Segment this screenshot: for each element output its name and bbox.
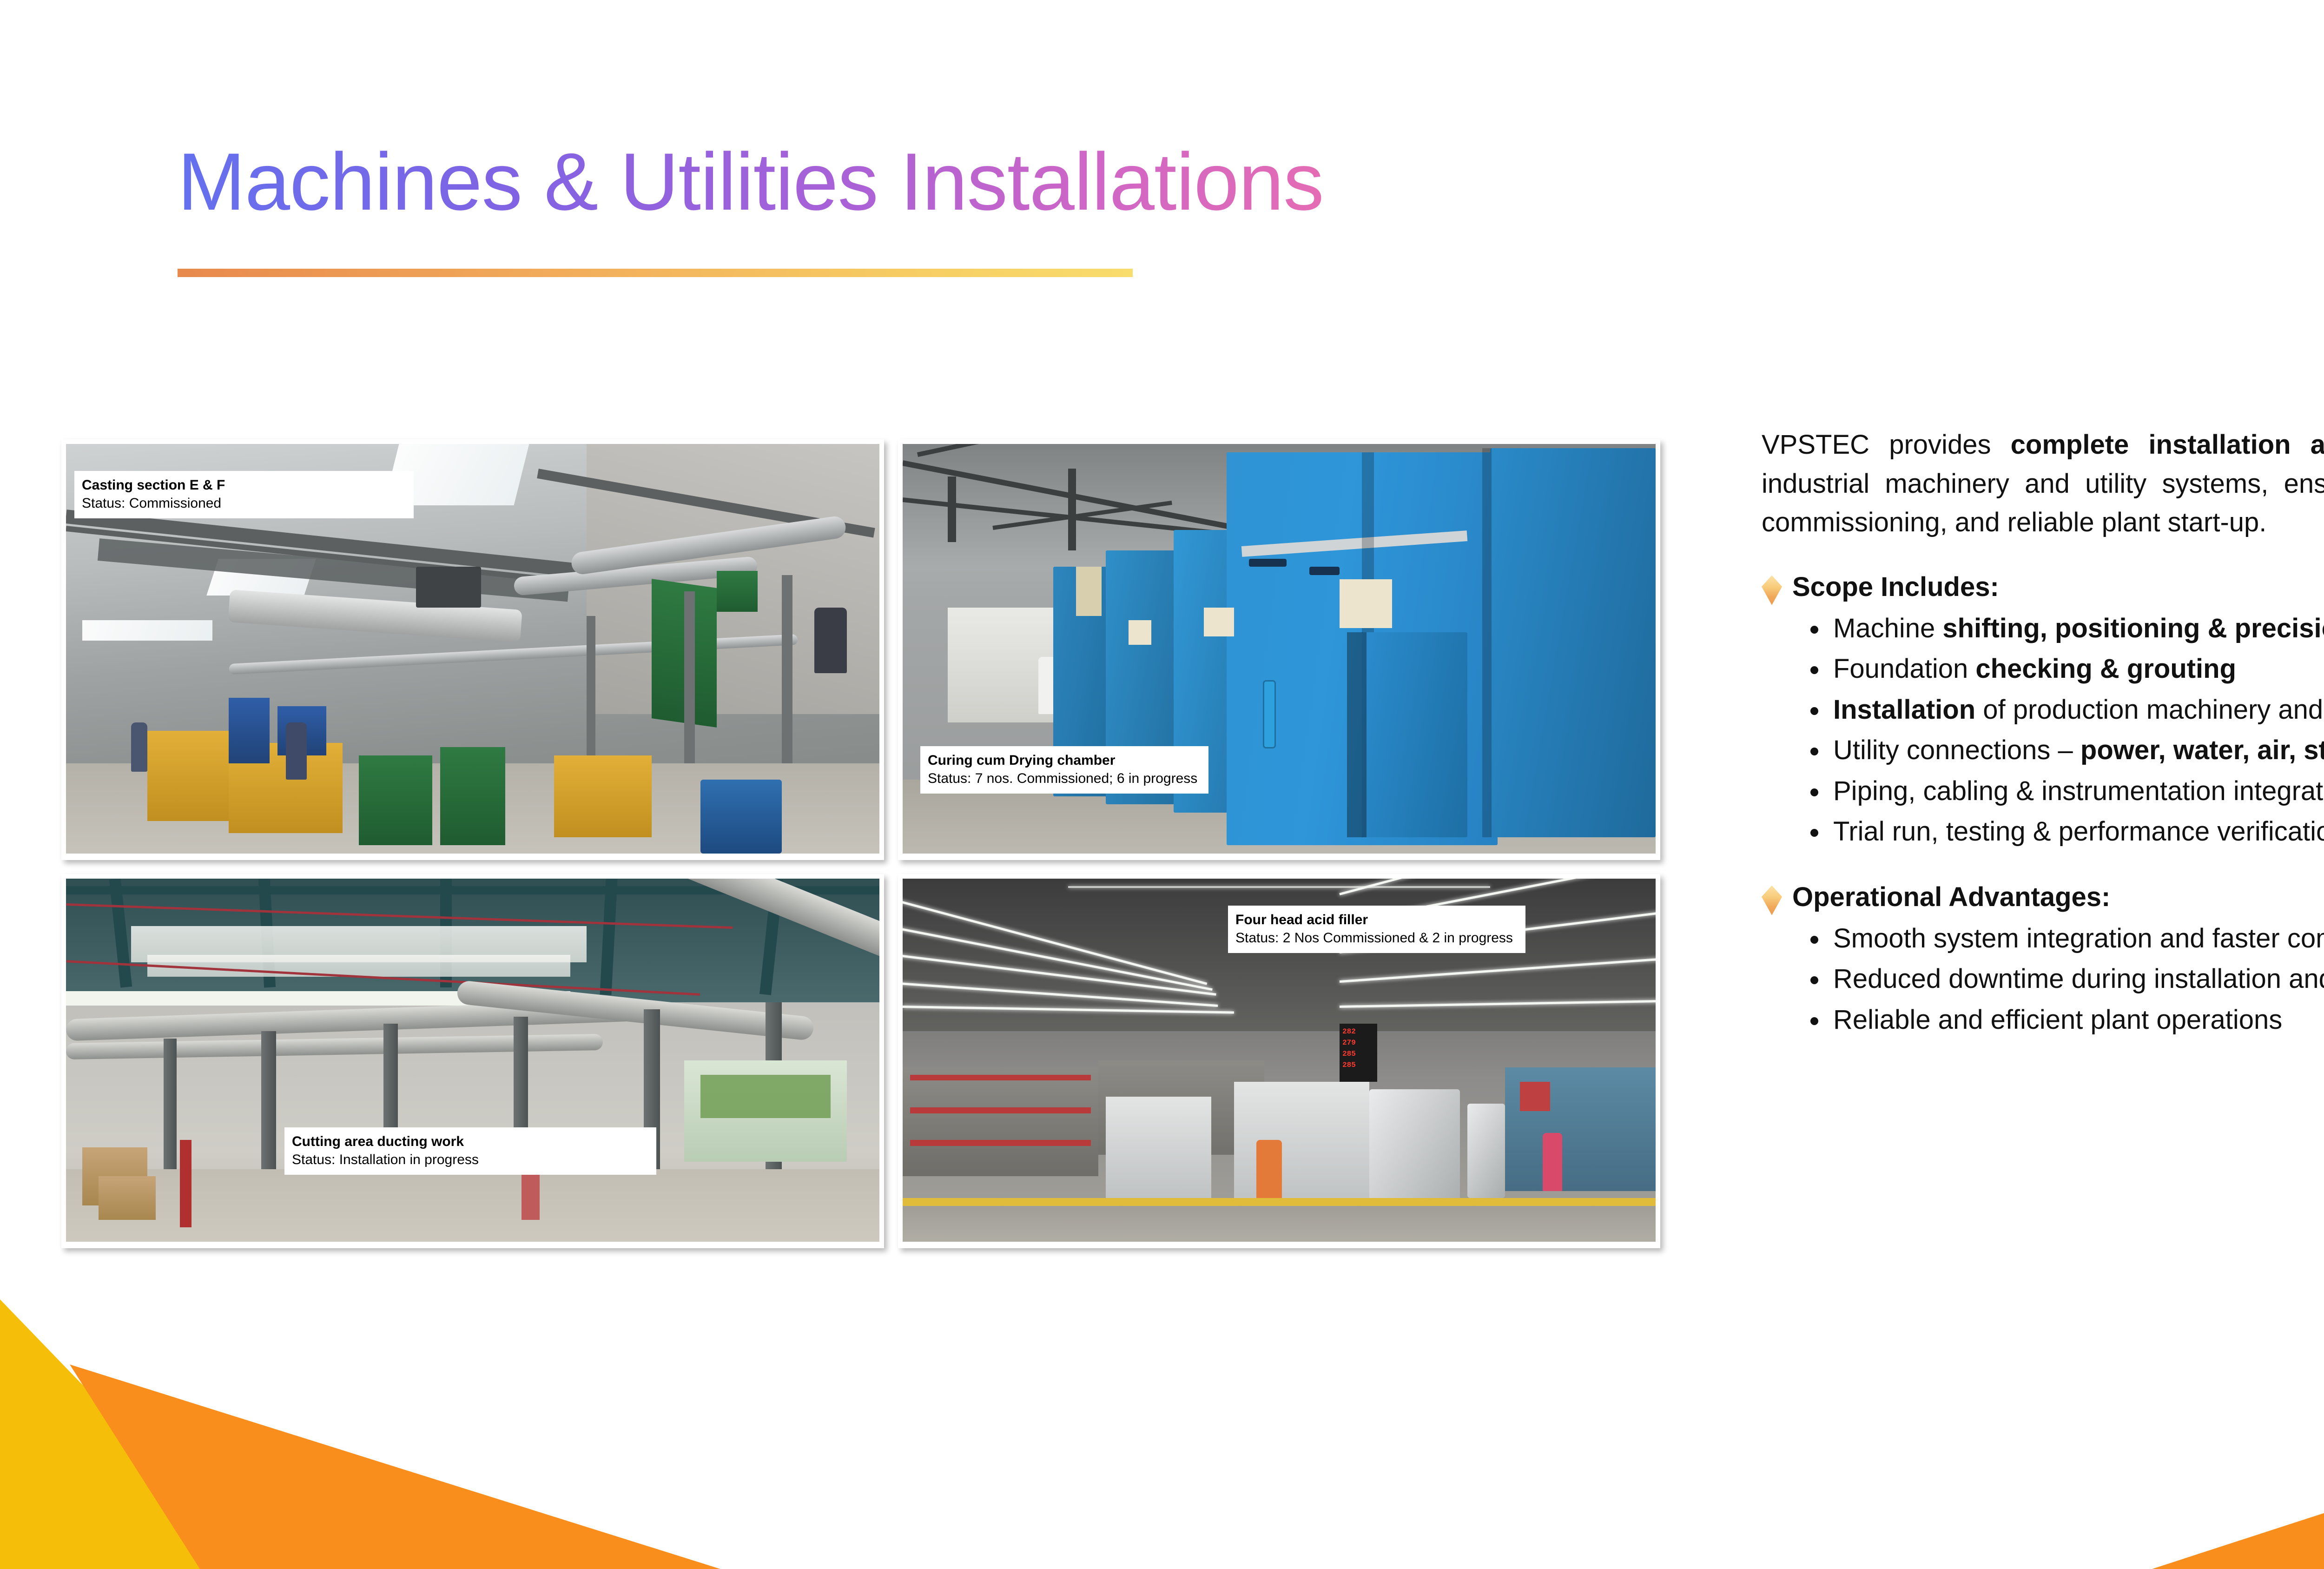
scope-bullet-list: Machine shifting, positioning & precisio… [1806,609,2324,851]
slide-root: Machines & Utilities Installations [0,0,2324,1569]
photo-curing-drying-chamber[interactable]: Curing cum Drying chamber Status: 7 nos.… [898,439,1660,860]
list-item: Reliable and efficient plant operations [1829,1000,2324,1039]
diamond-bullet-icon [1762,576,1782,605]
caption-cutting-area-ducting: Cutting area ducting work Status: Instal… [284,1127,656,1175]
list-item: Smooth system integration and faster com… [1829,919,2324,958]
list-item: Foundation checking & grouting [1829,649,2324,689]
caption-title: Curing cum Drying chamber [928,751,1201,769]
photo-casting-section[interactable]: Casting section E & F Status: Commission… [61,439,884,860]
photo-cutting-area-ducting[interactable]: Cutting area ducting work Status: Instal… [61,874,884,1248]
caption-status: Status: 2 Nos Commissioned & 2 in progre… [1235,929,1518,947]
bullet-text-pre: Foundation [1833,654,1975,684]
bullet-text-bold: power, water, air, steam, gas [2080,735,2324,765]
section-operational-advantages: Operational Advantages: Smooth system in… [1762,881,2324,1039]
section-scope-title: Scope Includes: [1792,571,1999,603]
list-item: Trial run, testing & performance verific… [1829,812,2324,851]
advantages-bullet-list: Smooth system integration and faster com… [1806,919,2324,1039]
list-item: Machine shifting, positioning & precisio… [1829,609,2324,648]
caption-status: Status: 7 nos. Commissioned; 6 in progre… [928,769,1201,788]
section-advantages-header: Operational Advantages: [1762,881,2324,915]
bullet-text-post: of production machinery and process equi… [1975,695,2324,725]
caption-title: Four head acid filler [1235,911,1518,929]
list-item: Piping, cabling & instrumentation integr… [1829,772,2324,811]
caption-title: Cutting area ducting work [292,1132,649,1151]
content-column: VPSTEC provides complete installation an… [1762,425,2324,1046]
caption-status: Status: Commissioned [82,494,406,512]
list-item: Utility connections – power, water, air,… [1829,731,2324,770]
bullet-text-pre: Utility connections – [1833,735,2080,765]
bullet-text-bold: checking & grouting [1975,654,2236,684]
bullet-text-bold: Installation [1833,695,1975,725]
caption-casting-section: Casting section E & F Status: Commission… [74,471,414,518]
page-title-wrap: Machines & Utilities Installations [178,139,1324,225]
caption-four-head-acid-filler: Four head acid filler Status: 2 Nos Comm… [1228,906,1525,953]
title-underline-rule [178,269,1133,277]
list-item: Installation of production machinery and… [1829,690,2324,729]
intro-part-1: VPSTEC provides [1762,430,2011,460]
intro-bold-phrase: complete installation and integration se… [2011,430,2324,460]
diamond-bullet-icon [1762,886,1782,915]
section-advantages-title: Operational Advantages: [1792,881,2110,914]
caption-status: Status: Installation in progress [292,1151,649,1169]
section-spacer [1762,858,2324,881]
bullet-text-pre: Reduced downtime during installation and… [1833,964,2324,994]
photo-grid: Casting section E & F Status: Commission… [61,439,1660,1248]
bullet-text-pre: Piping, cabling & instrumentation integr… [1833,776,2324,806]
bullet-text-bold: shifting, positioning & precision alignm… [1942,613,2324,643]
photo-cutting-area-ducting-image [66,879,879,1242]
intro-paragraph: VPSTEC provides complete installation an… [1762,425,2324,542]
bullet-text-pre: Machine [1833,613,1942,643]
caption-title: Casting section E & F [82,476,406,494]
bullet-text-pre: Smooth system integration and faster com… [1833,923,2324,953]
section-scope-header: Scope Includes: [1762,571,2324,605]
photo-four-head-acid-filler[interactable]: 282279285285 Four head acid filler Statu… [898,874,1660,1248]
caption-curing-drying-chamber: Curing cum Drying chamber Status: 7 nos.… [920,746,1208,794]
bullet-text-pre: Reliable and efficient plant operations [1833,1005,2282,1035]
bullet-text-pre: Trial run, testing & performance verific… [1833,816,2324,847]
section-scope-includes: Scope Includes: Machine shifting, positi… [1762,571,2324,851]
page-title: Machines & Utilities Installations [178,139,1324,225]
list-item: Reduced downtime during installation and… [1829,960,2324,999]
corner-decoration-right [1999,1271,2324,1569]
corner-decoration-left [0,1271,790,1569]
